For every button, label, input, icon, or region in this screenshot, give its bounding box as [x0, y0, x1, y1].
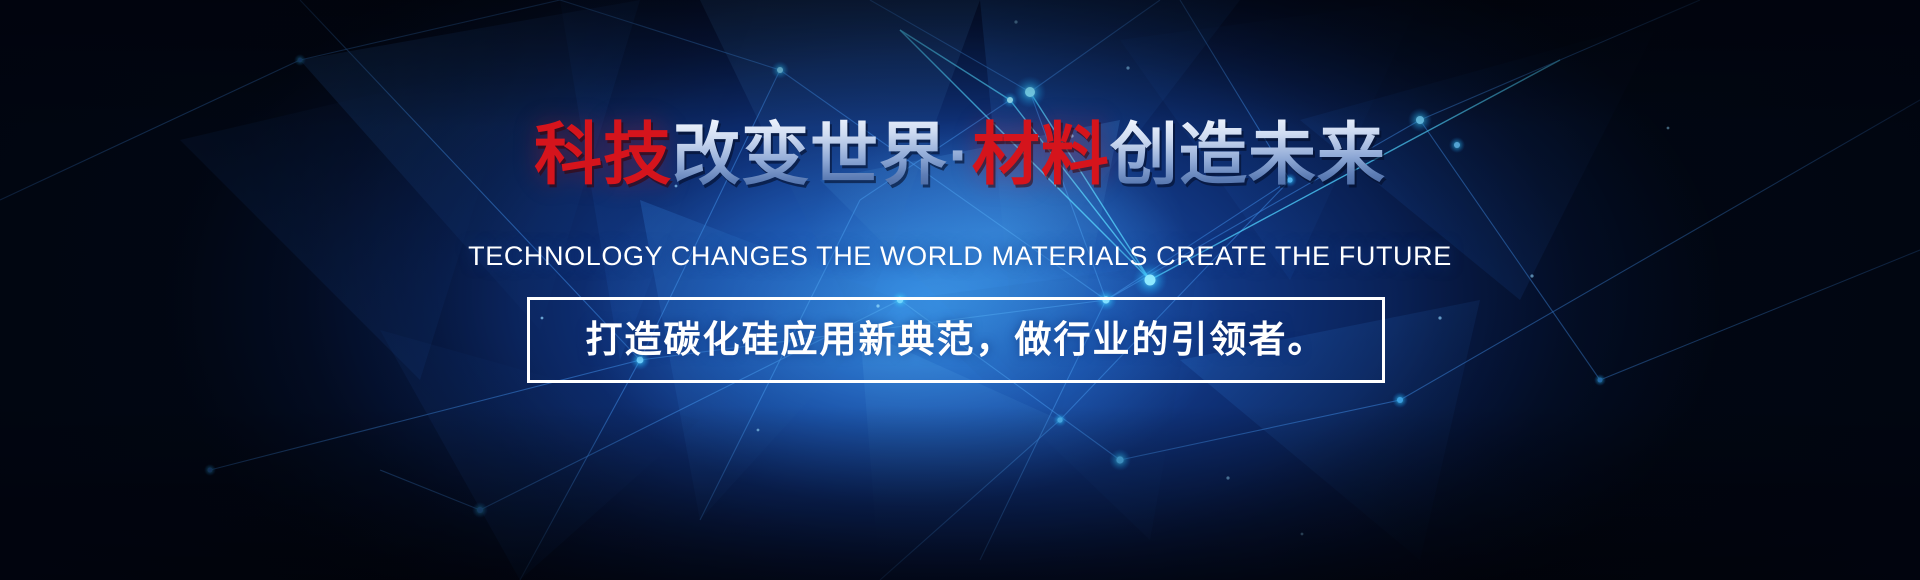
headline-segment-2: 改变世界·	[672, 118, 972, 192]
headline-segment-3: 材料	[972, 118, 1110, 192]
page-subtitle: TECHNOLOGY CHANGES THE WORLD MATERIALS C…	[0, 240, 1920, 272]
page-title: 科技改变世界·材料创造未来	[0, 118, 1920, 192]
headline-segment-4: 创造未来	[1110, 118, 1386, 192]
slogan-text: 打造碳化硅应用新典范，做行业的引领者。	[586, 318, 1327, 362]
slogan-box: 打造碳化硅应用新典范，做行业的引领者。	[527, 297, 1385, 383]
hero-banner: 科技改变世界·材料创造未来 TECHNOLOGY CHANGES THE WOR…	[0, 0, 1920, 580]
headline-segment-1: 科技	[534, 118, 672, 192]
